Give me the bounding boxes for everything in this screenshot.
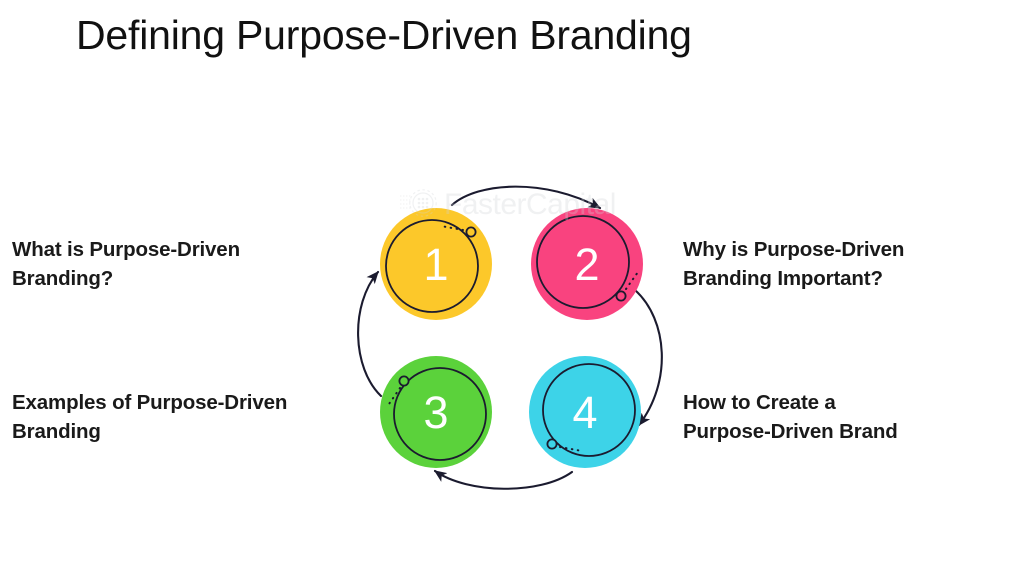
slide-canvas: Defining Purpose-Driven Branding — [0, 0, 1024, 571]
node-4-label-line-1: How to Create a — [683, 388, 1003, 417]
node-1[interactable] — [380, 208, 492, 320]
node-4-marker-dot — [547, 439, 556, 448]
node-3[interactable] — [380, 356, 492, 468]
node-4[interactable] — [529, 356, 641, 468]
node-4-disc[interactable] — [529, 356, 641, 468]
node-2-marker-dot — [616, 291, 625, 300]
arrow-3-to-1 — [358, 272, 381, 396]
node-3-label-line-1: Examples of Purpose-Driven — [12, 388, 342, 417]
node-3-label: Examples of Purpose-Driven Branding — [12, 388, 342, 446]
arrow-1-to-2 — [452, 187, 600, 208]
node-2-disc[interactable] — [531, 208, 643, 320]
node-3-disc[interactable] — [380, 356, 492, 468]
node-1-label: What is Purpose-Driven Branding? — [12, 235, 332, 293]
node-1-disc[interactable] — [380, 208, 492, 320]
node-4-label: How to Create a Purpose-Driven Brand — [683, 388, 1003, 446]
node-3-marker-dot — [399, 376, 408, 385]
node-2-label: Why is Purpose-Driven Branding Important… — [683, 235, 1013, 293]
node-1-marker-dot — [466, 227, 475, 236]
arrow-4-to-3 — [435, 471, 572, 489]
node-2-label-line-2: Branding Important? — [683, 264, 1013, 293]
node-1-label-line-1: What is Purpose-Driven — [12, 235, 332, 264]
node-4-label-line-2: Purpose-Driven Brand — [683, 417, 1003, 446]
node-2-label-line-1: Why is Purpose-Driven — [683, 235, 1013, 264]
node-2[interactable] — [531, 208, 643, 320]
node-1-label-line-2: Branding? — [12, 264, 332, 293]
node-3-label-line-2: Branding — [12, 417, 342, 446]
